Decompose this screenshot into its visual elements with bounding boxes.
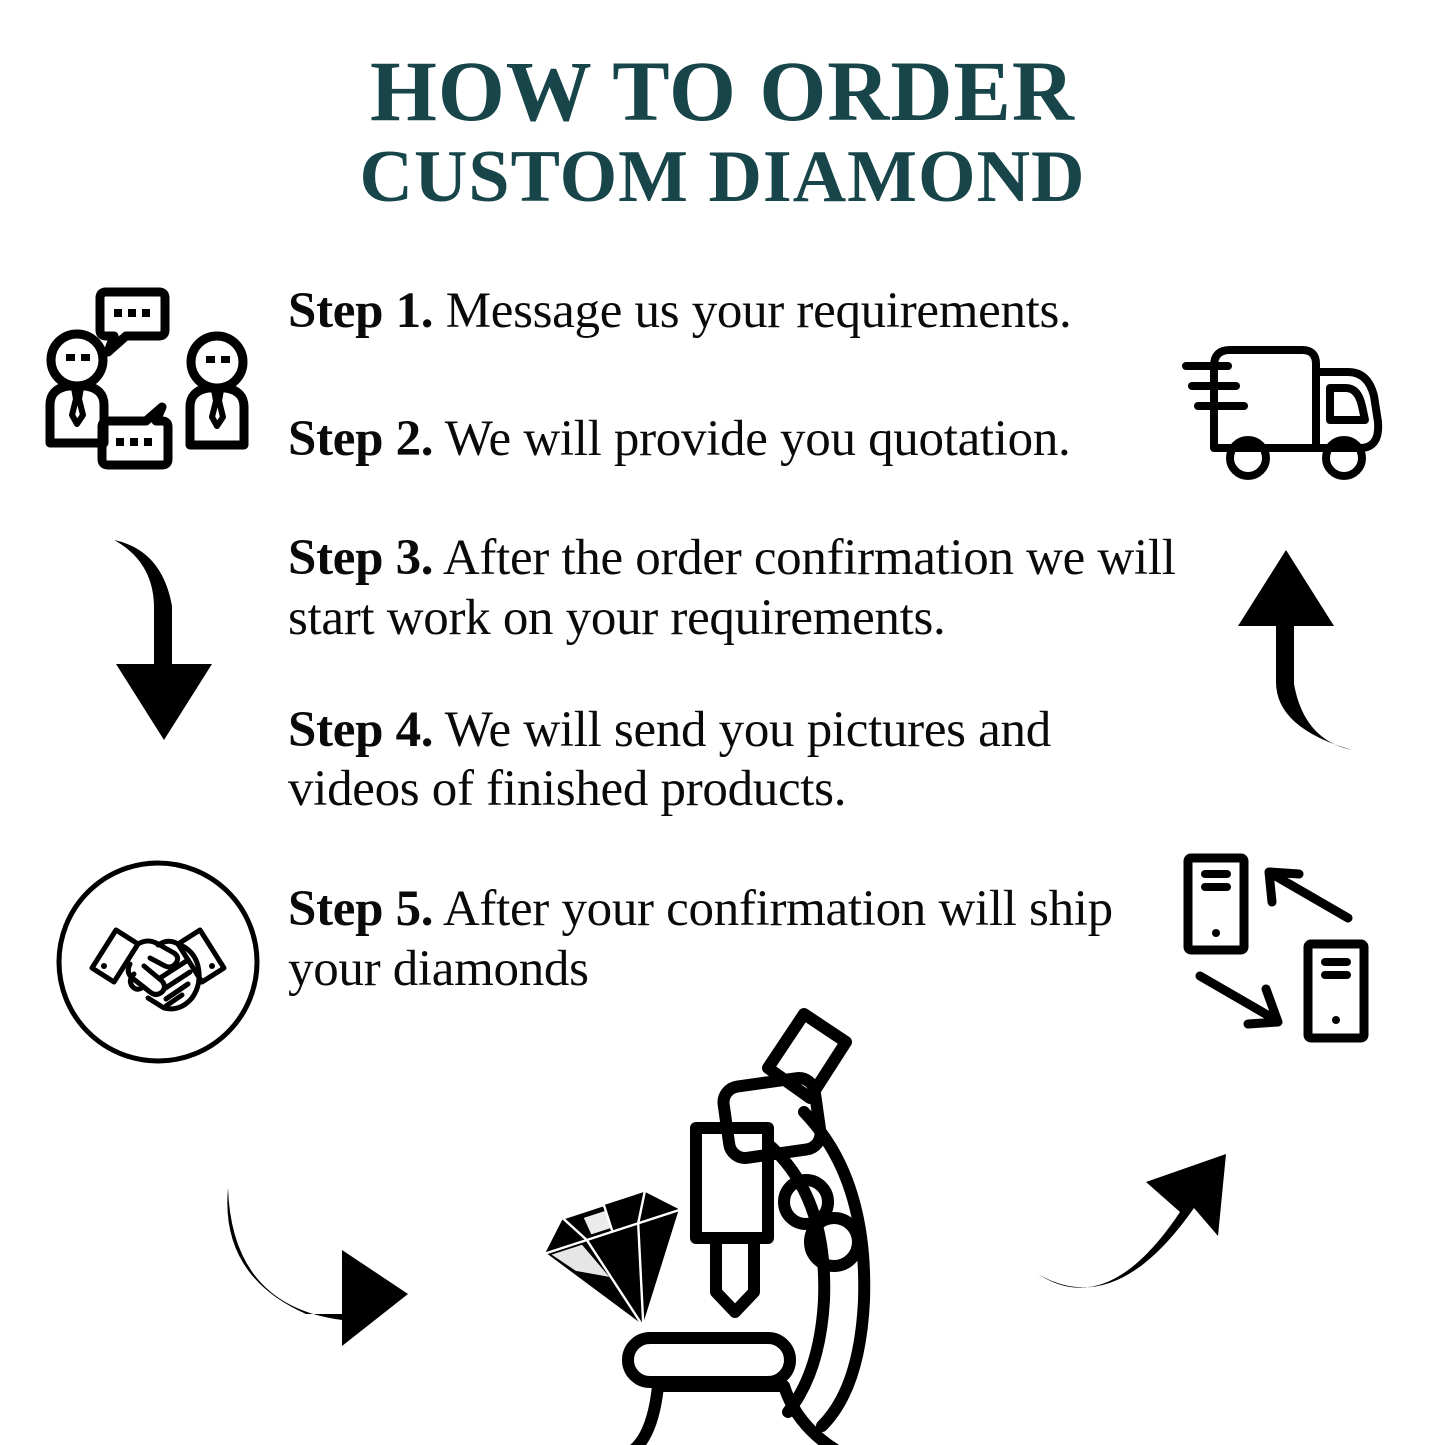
infographic-canvas: HOW TO ORDER CUSTOM DIAMOND Step 1. Mess…: [0, 0, 1445, 1445]
arrow-curved-right-down-icon: [210, 1184, 430, 1352]
title-line-2: CUSTOM DIAMOND: [0, 140, 1445, 214]
arrow-curved-down-icon: [96, 534, 248, 746]
diamond-gem-icon: [528, 1186, 718, 1342]
arrow-curved-right-up-icon: [1030, 1152, 1250, 1324]
device-exchange-icon: [1168, 848, 1396, 1048]
step-label-2: Step 2.: [288, 411, 433, 467]
consultation-people-chat-icon: [36, 278, 258, 478]
delivery-truck-icon: [1168, 330, 1400, 490]
step-item-5: Step 5. After your confirmation will shi…: [288, 880, 1183, 999]
steps-list: Step 1. Message us your requirements. St…: [288, 282, 1183, 999]
step-label-3: Step 3.: [288, 530, 433, 586]
step-item-3: Step 3. After the order confirmation we …: [288, 529, 1183, 648]
step-label-1: Step 1.: [288, 283, 433, 339]
step-item-4: Step 4. We will send you pictures and vi…: [288, 701, 1183, 820]
handshake-circle-icon: [52, 856, 264, 1068]
title-line-1: HOW TO ORDER: [0, 48, 1445, 134]
step-label-5: Step 5.: [288, 881, 433, 937]
step-text-2: We will provide you quotation.: [433, 411, 1070, 467]
step-item-2: Step 2. We will provide you quotation.: [288, 410, 1183, 470]
step-item-1: Step 1. Message us your requirements.: [288, 282, 1183, 342]
arrow-curved-up-icon: [1218, 538, 1370, 756]
step-label-4: Step 4.: [288, 702, 433, 758]
page-title: HOW TO ORDER CUSTOM DIAMOND: [0, 48, 1445, 214]
step-text-1: Message us your requirements.: [433, 283, 1071, 339]
